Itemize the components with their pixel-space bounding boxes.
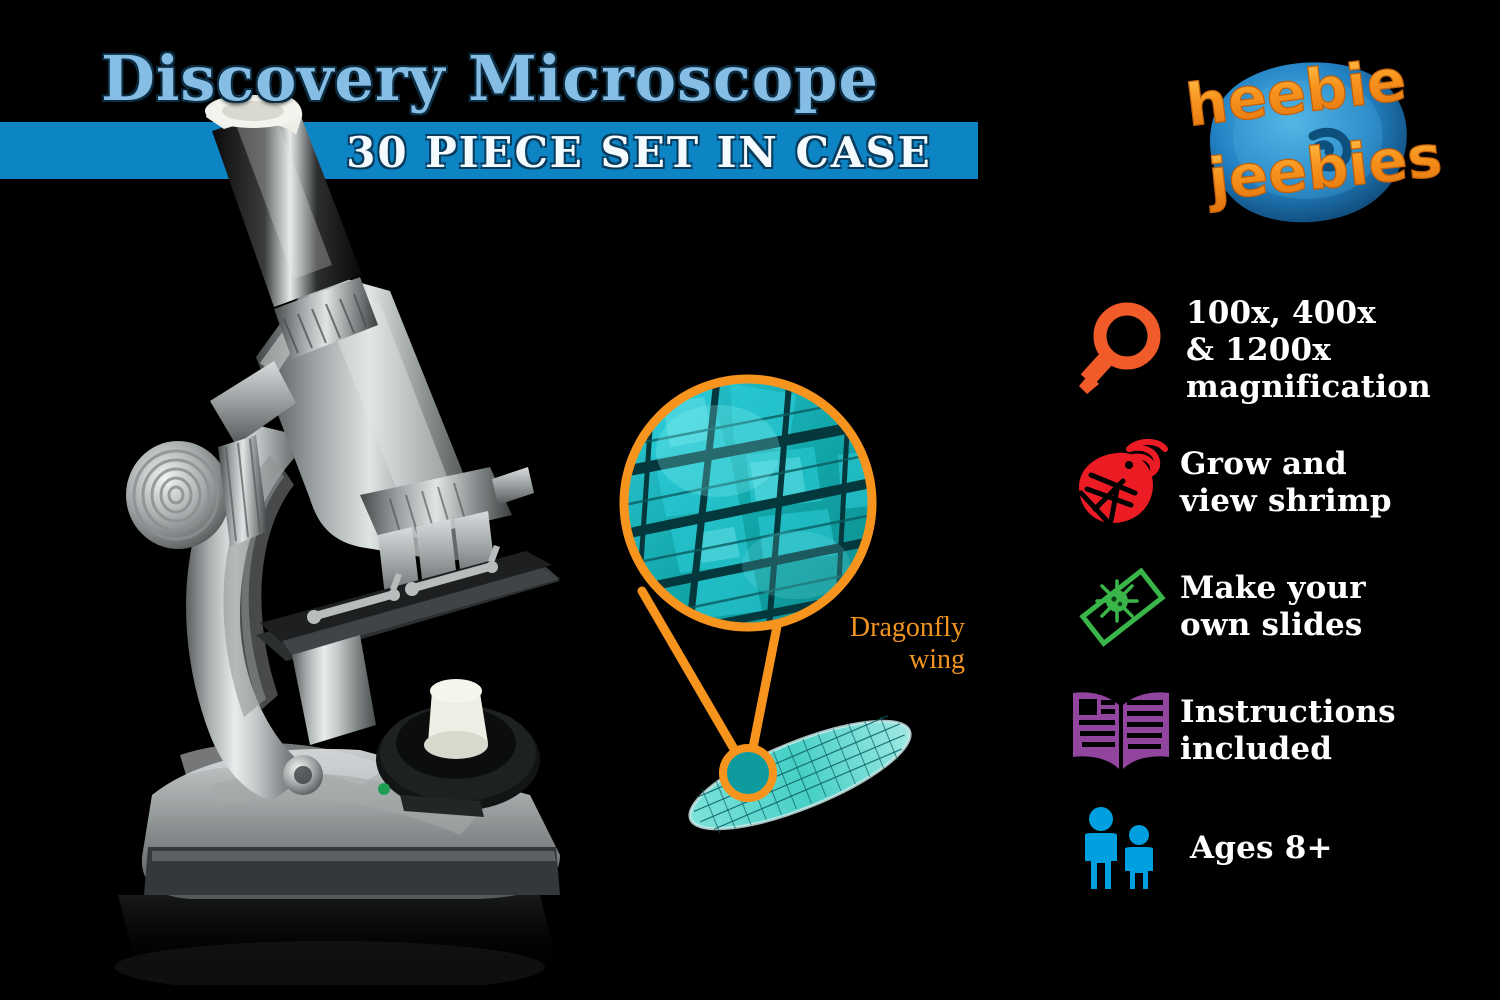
specimen-label-line2: wing bbox=[760, 644, 965, 676]
specimen-label-line1: Dragonfly bbox=[760, 612, 965, 644]
feature-instructions-text: Instructions included bbox=[1180, 694, 1396, 768]
feature-magnification: 100x, 400x & 1200x magnification bbox=[1062, 282, 1492, 418]
product-packaging-panel: Discovery Microscope 30 PIECE SET IN CAS… bbox=[0, 0, 1500, 1000]
feature-ages: Ages 8+ bbox=[1062, 796, 1492, 900]
specimen-label: Dragonfly wing bbox=[760, 612, 965, 676]
specimen-callout bbox=[600, 355, 1020, 855]
people-ages-icon bbox=[1062, 805, 1180, 891]
feature-ages-text: Ages 8+ bbox=[1190, 830, 1333, 867]
magnified-view bbox=[616, 371, 894, 641]
arm-pivot-screw bbox=[283, 755, 323, 795]
heebie-jeebies-logo: heebie jeebies bbox=[1163, 38, 1453, 243]
feature-list: 100x, 400x & 1200x magnification bbox=[1062, 282, 1492, 906]
feature-slides-text: Make your own slides bbox=[1180, 570, 1366, 644]
feature-shrimp-text: Grow and view shrimp bbox=[1180, 446, 1392, 520]
shrimp-icon bbox=[1062, 435, 1180, 531]
feature-magnification-text: 100x, 400x & 1200x magnification bbox=[1186, 295, 1431, 406]
base-reflection bbox=[115, 895, 560, 985]
microbe-glyph bbox=[1097, 581, 1137, 621]
open-book-icon bbox=[1062, 687, 1180, 775]
microscope-slide-icon bbox=[1062, 557, 1180, 657]
feature-slides: Make your own slides bbox=[1062, 548, 1492, 666]
microscope-image bbox=[60, 95, 680, 985]
feature-shrimp: Grow and view shrimp bbox=[1062, 424, 1492, 542]
page-subtitle: 30 PIECE SET IN CASE bbox=[300, 128, 978, 177]
focus-knob[interactable] bbox=[126, 435, 268, 549]
page-title: Discovery Microscope bbox=[0, 42, 980, 115]
feature-instructions: Instructions included bbox=[1062, 672, 1492, 790]
magnifier-icon bbox=[1062, 298, 1180, 402]
